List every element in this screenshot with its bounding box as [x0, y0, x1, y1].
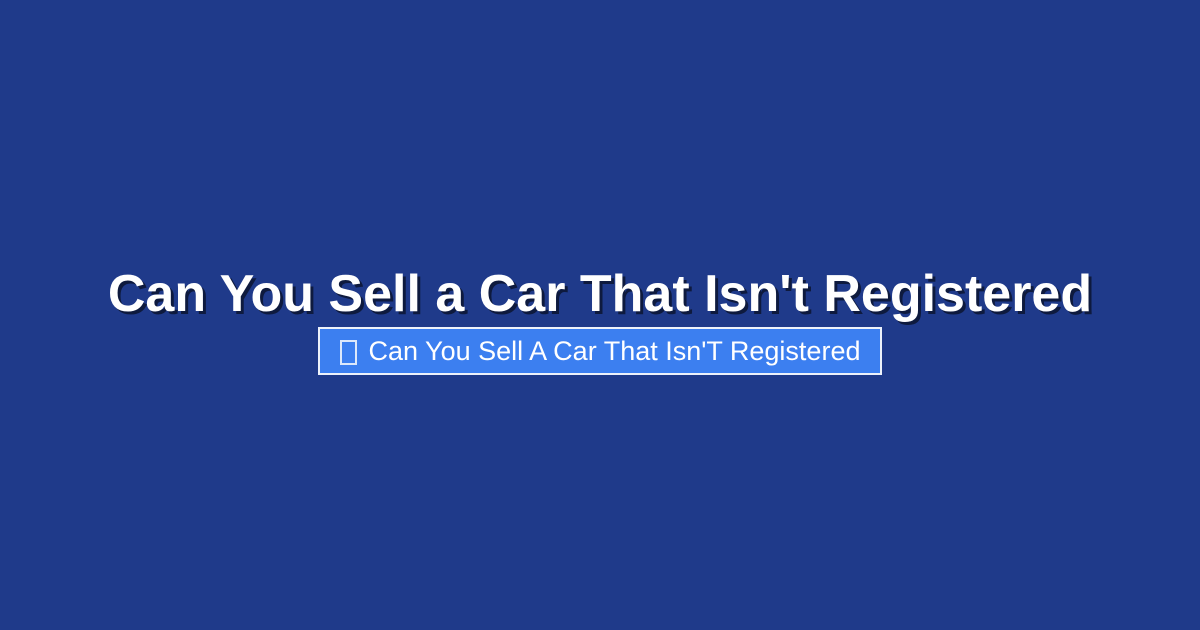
- page-title: Can You Sell a Car That Isn't Registered: [0, 264, 1200, 324]
- og-image-card: Can You Sell a Car That Isn't Registered…: [0, 0, 1200, 630]
- missing-glyph-tofu-icon: [340, 340, 357, 365]
- cta-row: Can You Sell A Car That Isn'T Registered: [0, 327, 1200, 375]
- cta-button[interactable]: Can You Sell A Car That Isn'T Registered: [318, 327, 883, 375]
- cta-button-label: Can You Sell A Car That Isn'T Registered: [369, 338, 861, 365]
